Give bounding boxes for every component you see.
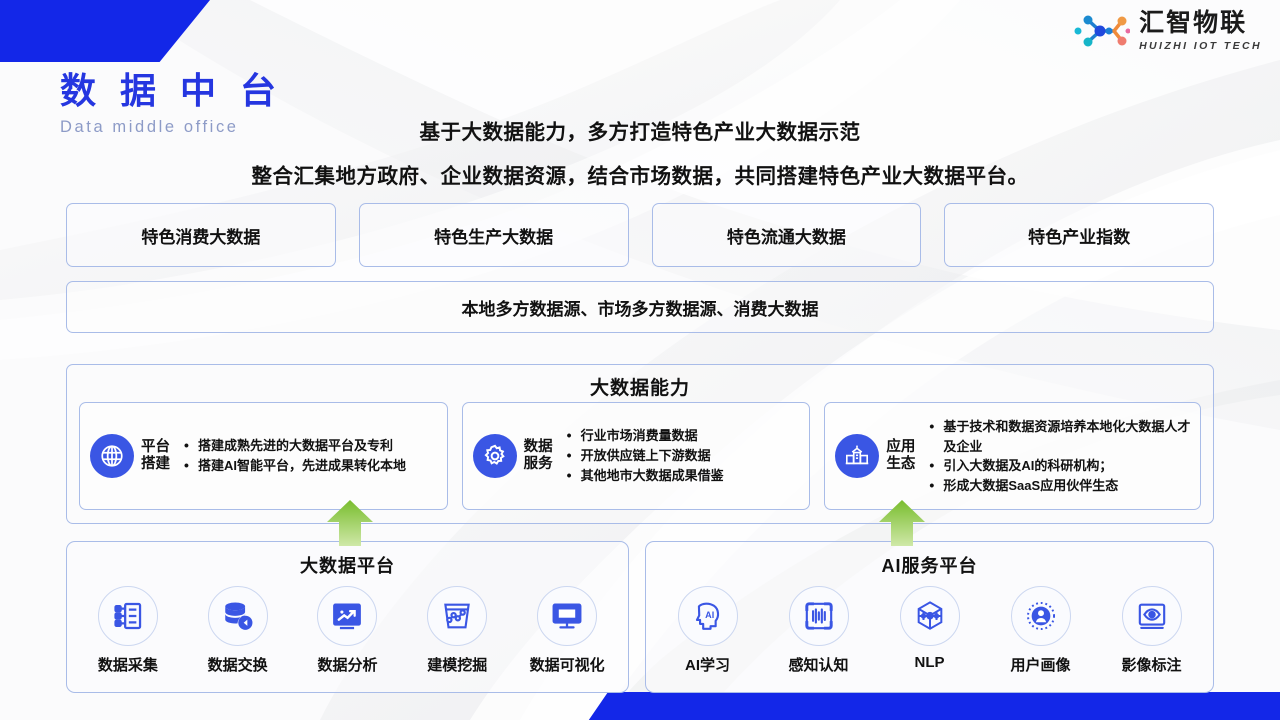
platform-item-image-annotation[interactable]: 影像标注 bbox=[1100, 586, 1204, 675]
molecule-network-icon bbox=[1074, 8, 1130, 54]
platform-item-nlp[interactable]: NLP bbox=[878, 586, 982, 671]
chart-analysis-icon bbox=[317, 586, 377, 646]
capability-card-data-service[interactable]: 数据 服务 行业市场消费量数据 开放供应链上下游数据 其他地市大数据成果借鉴 bbox=[462, 402, 811, 510]
model-mining-icon bbox=[427, 586, 487, 646]
monitor-visualization-icon bbox=[537, 586, 597, 646]
platform-item-label: 数据交换 bbox=[208, 654, 268, 675]
headline: 基于大数据能力，多方打造特色产业大数据示范 整合汇集地方政府、企业数据资源，结合… bbox=[0, 115, 1280, 189]
platform-items-big-data: 数据采集 数据交换 bbox=[67, 586, 628, 675]
capability-card-row: 平台 搭建 搭建成熟先进的大数据平台及专利 搭建AI智能平台，先进成果转化本地 … bbox=[79, 402, 1201, 510]
platform-panel-big-data: 大数据平台 数据采集 bbox=[66, 541, 629, 693]
page-title-cn: 数 据 中 台 bbox=[60, 62, 283, 114]
perception-scan-icon bbox=[789, 586, 849, 646]
capability-label-line-1: 平台 bbox=[141, 439, 170, 455]
capability-card-data-service-bullets: 行业市场消费量数据 开放供应链上下游数据 其他地市大数据成果借鉴 bbox=[564, 426, 802, 486]
brand-logo-text: 汇智物联 HUIZHI IOT TECH bbox=[1139, 11, 1262, 52]
list-item: 形成大数据SaaS应用伙伴生态 bbox=[926, 476, 1192, 496]
capability-label-line-1: 应用 bbox=[886, 439, 915, 455]
capability-card-data-service-label: 数据 服务 bbox=[524, 439, 556, 474]
top-card-industry-index[interactable]: 特色产业指数 bbox=[944, 203, 1214, 267]
capability-label-line-1: 数据 bbox=[524, 439, 553, 455]
platform-item-label: AI学习 bbox=[685, 654, 730, 675]
platform-title-big-data: 大数据平台 bbox=[67, 552, 628, 578]
gear-icon bbox=[473, 434, 517, 478]
headline-line-1: 基于大数据能力，多方打造特色产业大数据示范 bbox=[0, 115, 1280, 145]
big-data-capability-panel: 大数据能力 平台 搭建 搭建成熟先进的大数据平台及专利 搭建AI智能平台，先进成… bbox=[66, 364, 1214, 524]
platform-item-label: 用户画像 bbox=[1010, 654, 1070, 675]
list-item: 基于技术和数据资源培养本地化大数据人才及企业 bbox=[926, 417, 1192, 456]
platform-item-model-mining[interactable]: 建模挖掘 bbox=[405, 586, 509, 675]
platform-item-label: 建模挖掘 bbox=[427, 654, 487, 675]
brand-name-en: HUIZHI IOT TECH bbox=[1139, 41, 1262, 52]
svg-text:AI: AI bbox=[705, 610, 714, 620]
brand-name-cn: 汇智物联 bbox=[1139, 11, 1247, 36]
platform-item-label: 感知认知 bbox=[788, 654, 848, 675]
platform-item-label: 影像标注 bbox=[1121, 654, 1181, 675]
capability-card-platform[interactable]: 平台 搭建 搭建成熟先进的大数据平台及专利 搭建AI智能平台，先进成果转化本地 bbox=[79, 402, 448, 510]
header-blue-accent-bar bbox=[0, 0, 210, 62]
platform-item-perception[interactable]: 感知认知 bbox=[767, 586, 871, 675]
top-category-cards: 特色消费大数据 特色生产大数据 特色流通大数据 特色产业指数 bbox=[66, 203, 1214, 267]
capability-label-line-2: 搭建 bbox=[141, 456, 170, 472]
capability-card-app-ecosystem-label: 应用 生态 bbox=[886, 439, 918, 474]
data-collection-icon bbox=[98, 586, 158, 646]
platform-item-data-collection[interactable]: 数据采集 bbox=[76, 586, 180, 675]
building-icon bbox=[835, 434, 879, 478]
database-exchange-icon bbox=[208, 586, 268, 646]
capability-label-line-2: 生态 bbox=[886, 456, 915, 472]
footer-blue-accent-bar bbox=[0, 692, 1280, 720]
platform-item-label: 数据采集 bbox=[98, 654, 158, 675]
headline-line-2: 整合汇集地方政府、企业数据资源，结合市场数据，共同搭建特色产业大数据平台。 bbox=[0, 159, 1280, 189]
top-card-production[interactable]: 特色生产大数据 bbox=[359, 203, 629, 267]
list-item: 其他地市大数据成果借鉴 bbox=[564, 466, 802, 486]
platform-items-ai-service: AI AI学习 感知认知 bbox=[646, 586, 1213, 675]
platform-item-label: NLP bbox=[915, 654, 945, 671]
list-item: 开放供应链上下游数据 bbox=[564, 446, 802, 466]
platform-title-ai-service: AI服务平台 bbox=[646, 552, 1213, 578]
platform-item-label: 数据可视化 bbox=[530, 654, 605, 675]
globe-icon bbox=[90, 434, 134, 478]
list-item: 引入大数据及AI的科研机构； bbox=[926, 456, 1192, 476]
top-card-circulation[interactable]: 特色流通大数据 bbox=[652, 203, 922, 267]
slide-root: 汇智物联 HUIZHI IOT TECH 数 据 中 台 Data middle… bbox=[0, 0, 1280, 720]
platform-item-data-exchange[interactable]: 数据交换 bbox=[186, 586, 290, 675]
platform-item-ai-learning[interactable]: AI AI学习 bbox=[656, 586, 760, 675]
brand-logo: 汇智物联 HUIZHI IOT TECH bbox=[1074, 8, 1262, 54]
ai-head-icon: AI bbox=[678, 586, 738, 646]
capability-card-platform-label: 平台 搭建 bbox=[141, 439, 173, 474]
capability-label-line-2: 服务 bbox=[524, 456, 553, 472]
top-card-consumption[interactable]: 特色消费大数据 bbox=[66, 203, 336, 267]
data-source-bar: 本地多方数据源、市场多方数据源、消费大数据 bbox=[66, 281, 1214, 333]
platform-item-data-visualization[interactable]: 数据可视化 bbox=[515, 586, 619, 675]
platform-item-user-profile[interactable]: 用户画像 bbox=[989, 586, 1093, 675]
neural-network-icon bbox=[900, 586, 960, 646]
capability-card-app-ecosystem[interactable]: 应用 生态 基于技术和数据资源培养本地化大数据人才及企业 引入大数据及AI的科研… bbox=[824, 402, 1201, 510]
green-up-arrow-right bbox=[878, 500, 926, 546]
list-item: 行业市场消费量数据 bbox=[564, 426, 802, 446]
user-profile-icon bbox=[1011, 586, 1071, 646]
capability-card-app-ecosystem-bullets: 基于技术和数据资源培养本地化大数据人才及企业 引入大数据及AI的科研机构； 形成… bbox=[926, 417, 1192, 495]
platform-item-data-analysis[interactable]: 数据分析 bbox=[295, 586, 399, 675]
green-up-arrow-left bbox=[326, 500, 374, 546]
platform-item-label: 数据分析 bbox=[317, 654, 377, 675]
list-item: 搭建成熟先进的大数据平台及专利 bbox=[181, 436, 439, 456]
image-annotation-icon bbox=[1122, 586, 1182, 646]
capability-panel-title: 大数据能力 bbox=[67, 373, 1213, 400]
list-item: 搭建AI智能平台，先进成果转化本地 bbox=[181, 456, 439, 476]
capability-card-platform-bullets: 搭建成熟先进的大数据平台及专利 搭建AI智能平台，先进成果转化本地 bbox=[181, 436, 439, 476]
platform-panel-ai-service: AI服务平台 AI AI学习 bbox=[645, 541, 1214, 693]
